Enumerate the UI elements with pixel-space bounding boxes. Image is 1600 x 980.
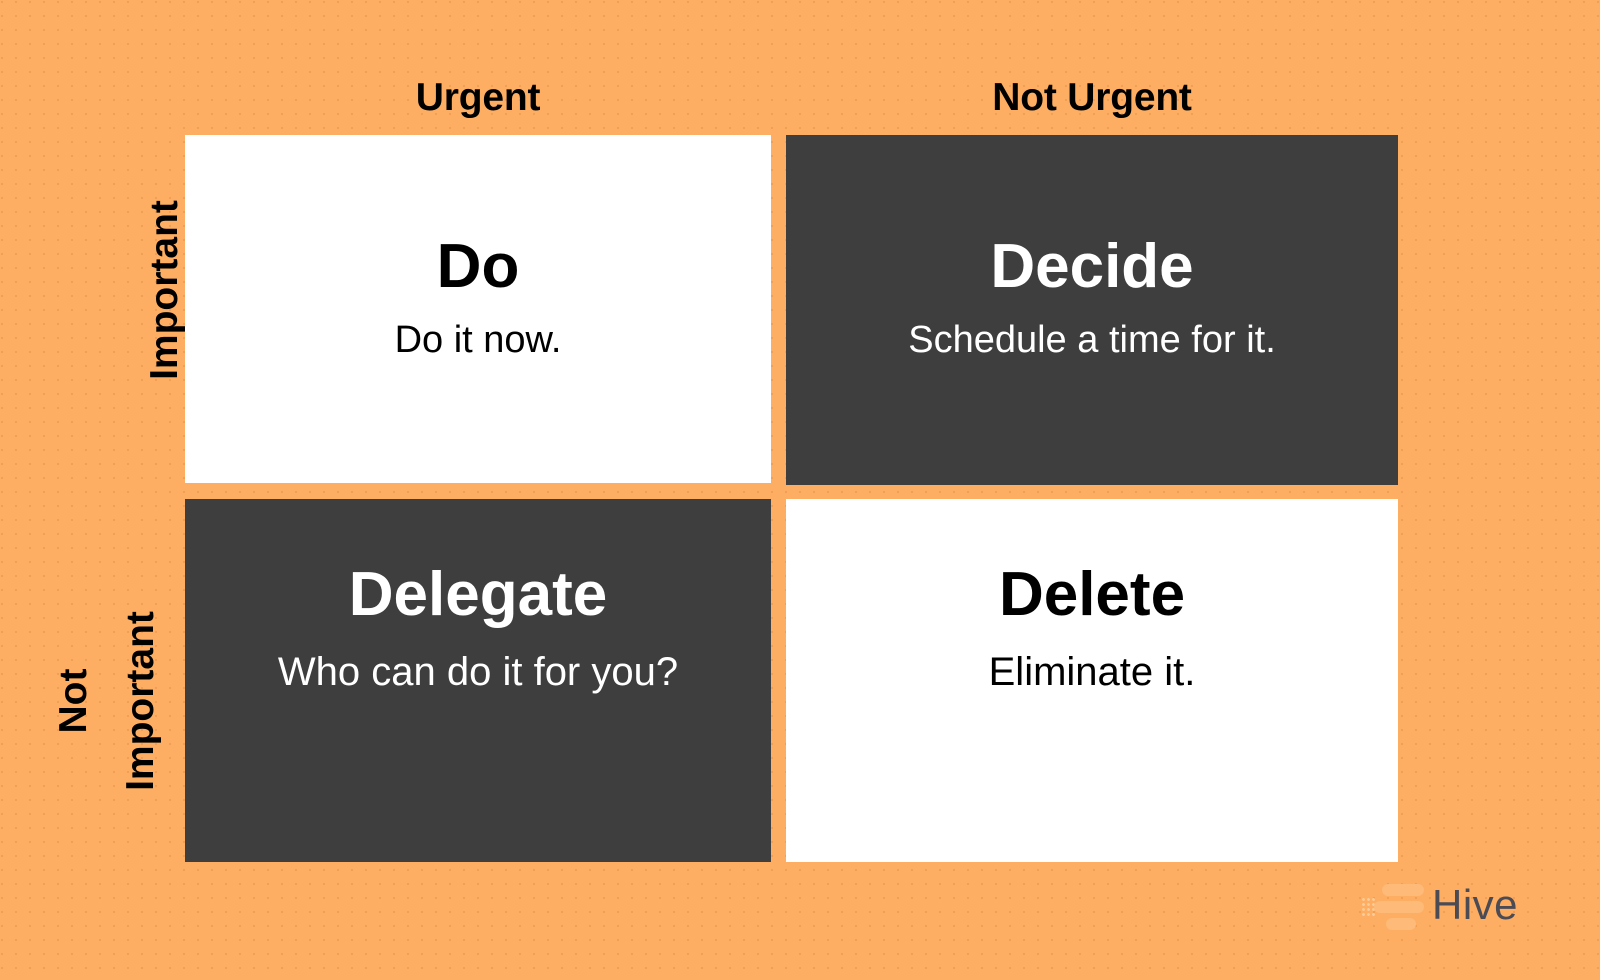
quadrant-do-title: Do bbox=[437, 236, 520, 298]
quadrant-delete[interactable]: Delete Eliminate it. bbox=[786, 499, 1398, 862]
column-header-urgent: Urgent bbox=[185, 76, 771, 120]
row-header-not-important-line1: Not bbox=[52, 551, 108, 851]
quadrant-delete-title: Delete bbox=[999, 564, 1185, 626]
quadrant-decide-title: Decide bbox=[990, 236, 1193, 298]
hive-wordmark: Hive bbox=[1432, 884, 1518, 926]
column-header-not-urgent: Not Urgent bbox=[786, 76, 1398, 120]
eisenhower-matrix-diagram: Urgent Not Urgent Important Not Importan… bbox=[0, 0, 1600, 980]
hive-bar-2 bbox=[1374, 901, 1424, 913]
row-header-not-important-line2: Important bbox=[119, 551, 175, 851]
quadrant-do[interactable]: Do Do it now. bbox=[185, 135, 771, 483]
hive-bars-icon bbox=[1362, 878, 1424, 932]
quadrant-delegate-subtitle: Who can do it for you? bbox=[278, 652, 678, 692]
hive-bar-1 bbox=[1382, 884, 1424, 896]
hive-logo: Hive bbox=[1362, 878, 1518, 932]
quadrant-decide-subtitle: Schedule a time for it. bbox=[908, 321, 1276, 359]
quadrant-do-subtitle: Do it now. bbox=[395, 321, 562, 359]
quadrant-delete-subtitle: Eliminate it. bbox=[989, 652, 1196, 692]
quadrant-decide[interactable]: Decide Schedule a time for it. bbox=[786, 135, 1398, 485]
quadrant-delegate-title: Delegate bbox=[349, 564, 607, 626]
hive-bar-3 bbox=[1386, 918, 1416, 930]
quadrant-delegate[interactable]: Delegate Who can do it for you? bbox=[185, 499, 771, 862]
